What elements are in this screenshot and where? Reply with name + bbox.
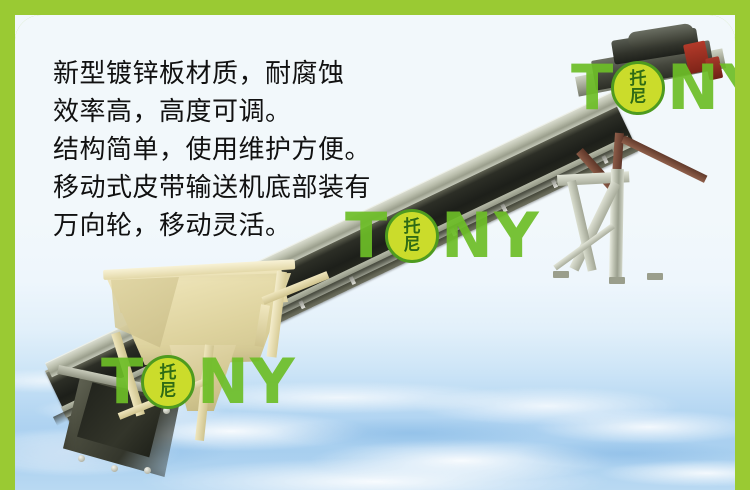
description-line-3: 结构简单，使用维护方便。 [53, 131, 483, 169]
product-description: 新型镀锌板材质，耐腐蚀 效率高，高度可调。 结构简单，使用维护方便。 移动式皮带… [53, 55, 483, 245]
support-foot-left [553, 271, 569, 278]
rivet [144, 467, 151, 474]
description-line-1: 新型镀锌板材质，耐腐蚀 [53, 55, 483, 93]
description-line-4: 移动式皮带输送机底部装有 [53, 169, 483, 207]
rivet [163, 407, 170, 414]
product-banner: 新型镀锌板材质，耐腐蚀 效率高，高度可调。 结构简单，使用维护方便。 移动式皮带… [0, 0, 750, 490]
support-foot-center [609, 277, 625, 284]
description-line-2: 效率高，高度可调。 [53, 93, 483, 131]
border-top [0, 0, 750, 15]
border-right [735, 0, 750, 490]
rivet [78, 455, 85, 462]
rivet [111, 465, 118, 472]
border-left [0, 0, 15, 478]
product-photo: 新型镀锌板材质，耐腐蚀 效率高，高度可调。 结构简单，使用维护方便。 移动式皮带… [15, 15, 735, 490]
description-line-5: 万向轮，移动灵活。 [53, 207, 483, 245]
support-brace-brown-right [621, 135, 707, 183]
support-foot-right [647, 273, 663, 280]
